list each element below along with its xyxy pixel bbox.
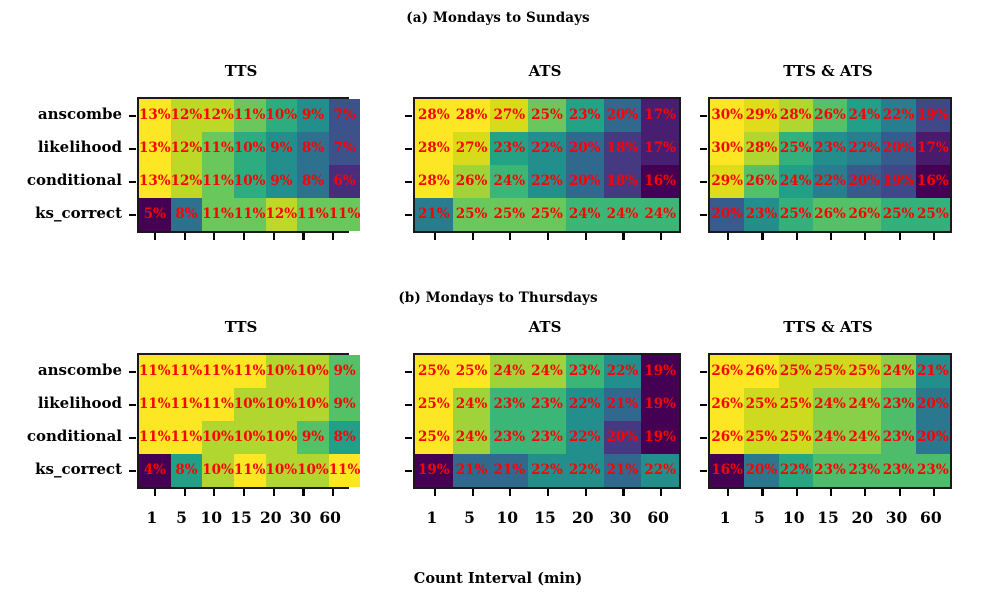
x-tick-mark: [273, 233, 275, 240]
heatmap-cell: 17%: [641, 99, 679, 132]
heatmap-cell: 23%: [566, 99, 604, 132]
heatmap-cell: 23%: [490, 388, 528, 421]
heatmap-cell: 13%: [139, 132, 171, 165]
heatmap-cell: 12%: [171, 99, 203, 132]
panel-title-b-ats: ATS: [413, 318, 677, 336]
y-tick-mark: [405, 148, 412, 150]
heatmap-cell: 26%: [453, 165, 491, 198]
heatmap-cell: 17%: [641, 132, 679, 165]
heatmap-cell: 24%: [813, 421, 847, 454]
heatmap-cell: 25%: [813, 355, 847, 388]
heatmap-cell: 25%: [744, 421, 778, 454]
heatmap-cell: 24%: [813, 388, 847, 421]
heatmap-cell: 11%: [234, 99, 266, 132]
heatmap-cell: 25%: [415, 355, 453, 388]
y-tick-mark: [700, 437, 707, 439]
heatmap-cell: 24%: [490, 355, 528, 388]
heatmap-cell: 16%: [641, 165, 679, 198]
heatmap-cell: 25%: [744, 388, 778, 421]
heatmap-cell: 30%: [710, 132, 744, 165]
heatmap-cell: 10%: [266, 99, 298, 132]
heatmap-cell: 24%: [881, 355, 915, 388]
heatmap-a-ats: 28%28%27%25%23%20%17%28%27%23%22%20%18%1…: [413, 97, 681, 233]
heatmap-cell: 11%: [202, 165, 234, 198]
x-tick-mark: [830, 233, 832, 240]
heatmap-cell: 30%: [710, 99, 744, 132]
y-tick-mark: [405, 470, 412, 472]
heatmap-cell: 22%: [847, 132, 881, 165]
heatmap-cell: 24%: [528, 355, 566, 388]
heatmap-cell: 26%: [710, 355, 744, 388]
x-axis-tick-label: 1: [413, 508, 451, 527]
heatmap-cell: 11%: [329, 198, 361, 231]
heatmap-cell: 11%: [234, 454, 266, 487]
x-tick-mark: [864, 489, 866, 496]
y-tick-mark: [700, 148, 707, 150]
heatmap-cell: 10%: [234, 421, 266, 454]
x-axis-tick-label: 60: [315, 508, 345, 527]
x-tick-mark: [622, 489, 624, 496]
heatmap-cell: 23%: [847, 454, 881, 487]
heatmap-cell: 28%: [415, 165, 453, 198]
x-tick-mark: [547, 489, 549, 496]
x-tick-mark: [184, 233, 186, 240]
heatmap-cell: 12%: [171, 165, 203, 198]
x-axis-tick-label: 30: [286, 508, 316, 527]
x-tick-mark: [213, 489, 215, 496]
x-tick-mark: [332, 489, 334, 496]
heatmap-cell: 20%: [916, 421, 950, 454]
heatmap-cell: 25%: [453, 355, 491, 388]
heatmap-cell: 9%: [266, 132, 298, 165]
section-title-b: (b) Mondays to Thursdays: [0, 290, 996, 306]
heatmap-b-ats: 25%25%24%24%23%22%19%25%24%23%23%22%21%1…: [413, 353, 681, 489]
x-axis-tick-label: 30: [879, 508, 913, 527]
y-tick-mark: [405, 371, 412, 373]
heatmap-cell: 24%: [641, 198, 679, 231]
heatmap-cell: 22%: [566, 421, 604, 454]
x-tick-mark: [302, 489, 304, 496]
x-tick-mark: [727, 233, 729, 240]
heatmap-b-tts: 11%11%11%11%10%10%9%11%11%11%10%10%10%9%…: [137, 353, 349, 489]
heatmap-cell: 24%: [847, 388, 881, 421]
heatmap-cell: 21%: [453, 454, 491, 487]
x-tick-mark: [184, 489, 186, 496]
heatmap-cell: 24%: [566, 198, 604, 231]
x-tick-mark: [332, 233, 334, 240]
heatmap-cell: 24%: [453, 388, 491, 421]
heatmap-cell: 19%: [641, 355, 679, 388]
heatmap-cell: 25%: [881, 198, 915, 231]
heatmap-cell: 22%: [779, 454, 813, 487]
heatmap-cell: 11%: [171, 421, 203, 454]
heatmap-cell: 21%: [604, 454, 642, 487]
heatmap-cell: 8%: [171, 198, 203, 231]
heatmap-cell: 10%: [266, 454, 298, 487]
x-axis-caption: Count Interval (min): [0, 570, 996, 587]
heatmap-cell: 16%: [916, 165, 950, 198]
y-tick-mark: [405, 115, 412, 117]
x-tick-mark: [154, 233, 156, 240]
heatmap-cell: 11%: [202, 355, 234, 388]
heatmap-cell: 28%: [453, 99, 491, 132]
panel-title-b-tts-ats: TTS & ATS: [708, 318, 948, 336]
heatmap-cell: 22%: [566, 388, 604, 421]
heatmap-cell: 10%: [202, 454, 234, 487]
x-axis-tick-label: 15: [811, 508, 845, 527]
x-axis-tick-label: 20: [564, 508, 602, 527]
x-tick-mark: [472, 233, 474, 240]
heatmap-cell: 25%: [453, 198, 491, 231]
x-axis-tick-label: 15: [226, 508, 256, 527]
y-axis-label-likelihood: likelihood: [0, 131, 122, 164]
heatmap-cell: 21%: [604, 388, 642, 421]
heatmap-cell: 12%: [171, 132, 203, 165]
heatmap-cell: 19%: [641, 421, 679, 454]
heatmap-cell: 11%: [234, 355, 266, 388]
heatmap-cell: 26%: [813, 198, 847, 231]
x-axis-tick-label: 30: [602, 508, 640, 527]
heatmap-cell: 25%: [779, 421, 813, 454]
heatmap-cell: 23%: [566, 355, 604, 388]
heatmap-cell: 8%: [297, 132, 329, 165]
heatmap-cell: 25%: [528, 99, 566, 132]
heatmap-cell: 25%: [779, 132, 813, 165]
heatmap-cell: 7%: [329, 132, 361, 165]
heatmap-cell: 4%: [139, 454, 171, 487]
x-tick-mark: [933, 233, 935, 240]
heatmap-cell: 11%: [202, 132, 234, 165]
y-tick-mark: [405, 404, 412, 406]
heatmap-cell: 26%: [847, 198, 881, 231]
heatmap-cell: 10%: [297, 388, 329, 421]
x-axis-tick-label: 60: [914, 508, 948, 527]
heatmap-cell: 11%: [139, 355, 171, 388]
x-tick-mark: [273, 489, 275, 496]
heatmap-cell: 23%: [881, 454, 915, 487]
heatmap-cell: 10%: [297, 355, 329, 388]
x-tick-mark: [796, 233, 798, 240]
heatmap-cell: 9%: [297, 421, 329, 454]
heatmap-cell: 10%: [234, 132, 266, 165]
heatmap-cell: 25%: [415, 388, 453, 421]
x-tick-mark: [472, 489, 474, 496]
heatmap-cell: 11%: [202, 198, 234, 231]
heatmap-cell: 19%: [916, 99, 950, 132]
y-tick-mark: [129, 181, 136, 183]
panel-title-a-tts: TTS: [137, 62, 345, 80]
heatmap-cell: 8%: [329, 421, 361, 454]
y-axis-labels-b: anscombelikelihoodconditionalks_correct: [0, 354, 122, 486]
x-axis-labels-b-tts: 151015203060: [137, 508, 345, 527]
y-axis-label-conditional: conditional: [0, 420, 122, 453]
heatmap-cell: 25%: [779, 388, 813, 421]
x-tick-mark: [761, 489, 763, 496]
heatmap-cell: 29%: [744, 99, 778, 132]
y-tick-mark: [129, 437, 136, 439]
heatmap-cell: 23%: [881, 421, 915, 454]
x-tick-mark: [154, 489, 156, 496]
x-tick-mark: [899, 233, 901, 240]
heatmap-cell: 22%: [528, 165, 566, 198]
x-axis-tick-label: 60: [639, 508, 677, 527]
heatmap-cell: 21%: [916, 355, 950, 388]
heatmap-cell: 16%: [710, 454, 744, 487]
heatmap-cell: 13%: [139, 99, 171, 132]
heatmap-cell: 27%: [453, 132, 491, 165]
x-tick-mark: [243, 233, 245, 240]
heatmap-cell: 10%: [266, 388, 298, 421]
heatmap-cell: 26%: [813, 99, 847, 132]
heatmap-cell: 28%: [415, 99, 453, 132]
heatmap-cell: 11%: [139, 421, 171, 454]
heatmap-cell: 10%: [234, 165, 266, 198]
y-axis-label-ks-correct: ks_correct: [0, 453, 122, 486]
heatmap-cell: 11%: [297, 198, 329, 231]
heatmap-cell: 18%: [604, 165, 642, 198]
y-tick-mark: [700, 404, 707, 406]
heatmap-cell: 20%: [916, 388, 950, 421]
heatmap-cell: 11%: [171, 388, 203, 421]
y-axis-label-anscombe: anscombe: [0, 98, 122, 131]
heatmap-cell: 22%: [566, 454, 604, 487]
heatmap-cell: 20%: [881, 132, 915, 165]
heatmap-cell: 9%: [329, 355, 361, 388]
heatmap-cell: 20%: [566, 132, 604, 165]
x-axis-tick-label: 10: [777, 508, 811, 527]
panel-title-a-tts-ats: TTS & ATS: [708, 62, 948, 80]
x-tick-mark: [830, 489, 832, 496]
heatmap-cell: 25%: [528, 198, 566, 231]
heatmap-cell: 28%: [744, 132, 778, 165]
heatmap-cell: 27%: [490, 99, 528, 132]
heatmap-cell: 8%: [171, 454, 203, 487]
x-axis-tick-label: 5: [451, 508, 489, 527]
y-tick-mark: [700, 214, 707, 216]
y-axis-label-ks-correct: ks_correct: [0, 197, 122, 230]
heatmap-cell: 29%: [710, 165, 744, 198]
y-tick-mark: [129, 214, 136, 216]
y-axis-label-anscombe: anscombe: [0, 354, 122, 387]
heatmap-cell: 9%: [266, 165, 298, 198]
x-axis-tick-label: 5: [742, 508, 776, 527]
y-tick-mark: [700, 115, 707, 117]
y-tick-mark: [405, 437, 412, 439]
y-tick-mark: [129, 371, 136, 373]
heatmap-cell: 21%: [415, 198, 453, 231]
x-tick-mark: [727, 489, 729, 496]
heatmap-cell: 13%: [139, 165, 171, 198]
heatmap-cell: 23%: [813, 132, 847, 165]
x-tick-mark: [864, 233, 866, 240]
heatmap-cell: 20%: [604, 99, 642, 132]
heatmap-cell: 23%: [813, 454, 847, 487]
heatmap-cell: 23%: [490, 132, 528, 165]
y-tick-mark: [405, 181, 412, 183]
x-axis-tick-label: 20: [256, 508, 286, 527]
heatmap-cell: 24%: [847, 99, 881, 132]
y-tick-mark: [129, 470, 136, 472]
heatmap-cell: 10%: [202, 421, 234, 454]
y-axis-label-conditional: conditional: [0, 164, 122, 197]
heatmap-cell: 26%: [744, 165, 778, 198]
heatmap-cell: 12%: [202, 99, 234, 132]
heatmap-cell: 20%: [566, 165, 604, 198]
y-tick-mark: [129, 404, 136, 406]
x-tick-mark: [796, 489, 798, 496]
x-tick-mark: [622, 233, 624, 240]
heatmap-cell: 26%: [744, 355, 778, 388]
y-axis-label-likelihood: likelihood: [0, 387, 122, 420]
heatmap-cell: 10%: [297, 454, 329, 487]
x-tick-mark: [660, 489, 662, 496]
heatmap-a-tts-ats: 30%29%28%26%24%22%19%30%28%25%23%22%20%1…: [708, 97, 952, 233]
heatmap-cell: 11%: [329, 454, 361, 487]
panel-title-b-tts: TTS: [137, 318, 345, 336]
section-title-a: (a) Mondays to Sundays: [0, 10, 996, 26]
heatmap-cell: 11%: [171, 355, 203, 388]
heatmap-cell: 25%: [779, 198, 813, 231]
x-axis-tick-label: 15: [526, 508, 564, 527]
heatmap-cell: 26%: [710, 388, 744, 421]
heatmap-cell: 28%: [779, 99, 813, 132]
x-axis-tick-label: 1: [137, 508, 167, 527]
x-tick-mark: [243, 489, 245, 496]
heatmap-cell: 10%: [234, 388, 266, 421]
heatmap-cell: 11%: [139, 388, 171, 421]
heatmap-cell: 23%: [916, 454, 950, 487]
heatmap-cell: 20%: [710, 198, 744, 231]
heatmap-cell: 25%: [415, 421, 453, 454]
x-tick-mark: [302, 233, 304, 240]
heatmap-cell: 22%: [528, 132, 566, 165]
heatmap-cell: 23%: [490, 421, 528, 454]
x-axis-tick-label: 20: [845, 508, 879, 527]
heatmap-cell: 23%: [528, 421, 566, 454]
heatmap-cell: 24%: [779, 165, 813, 198]
heatmap-cell: 25%: [779, 355, 813, 388]
y-tick-mark: [700, 371, 707, 373]
heatmap-cell: 25%: [916, 198, 950, 231]
heatmap-cell: 22%: [528, 454, 566, 487]
x-axis-tick-label: 10: [488, 508, 526, 527]
x-tick-mark: [547, 233, 549, 240]
heatmap-cell: 24%: [453, 421, 491, 454]
x-tick-mark: [585, 233, 587, 240]
heatmap-cell: 22%: [604, 355, 642, 388]
x-axis-tick-label: 1: [708, 508, 742, 527]
heatmap-cell: 17%: [916, 132, 950, 165]
x-tick-mark: [509, 489, 511, 496]
heatmap-cell: 19%: [415, 454, 453, 487]
heatmap-cell: 25%: [490, 198, 528, 231]
heatmap-cell: 9%: [329, 388, 361, 421]
x-tick-mark: [933, 489, 935, 496]
y-axis-labels-a: anscombelikelihoodconditionalks_correct: [0, 98, 122, 230]
x-axis-tick-label: 10: [196, 508, 226, 527]
heatmap-cell: 7%: [329, 99, 361, 132]
heatmap-a-tts: 13%12%12%11%10%9%7%13%12%11%10%9%8%7%13%…: [137, 97, 349, 233]
heatmap-cell: 24%: [490, 165, 528, 198]
heatmap-cell: 24%: [847, 421, 881, 454]
heatmap-cell: 11%: [234, 198, 266, 231]
heatmap-cell: 23%: [881, 388, 915, 421]
heatmap-cell: 23%: [744, 198, 778, 231]
x-tick-mark: [660, 233, 662, 240]
heatmap-cell: 20%: [604, 421, 642, 454]
heatmap-cell: 10%: [266, 355, 298, 388]
panel-title-a-ats: ATS: [413, 62, 677, 80]
y-tick-mark: [405, 214, 412, 216]
x-tick-mark: [213, 233, 215, 240]
heatmap-figure: (a) Mondays to Sundays TTS ATS TTS & ATS…: [0, 0, 996, 607]
heatmap-cell: 9%: [297, 99, 329, 132]
heatmap-cell: 22%: [881, 99, 915, 132]
heatmap-cell: 8%: [297, 165, 329, 198]
heatmap-cell: 18%: [604, 132, 642, 165]
heatmap-cell: 20%: [744, 454, 778, 487]
heatmap-cell: 26%: [710, 421, 744, 454]
heatmap-cell: 10%: [266, 421, 298, 454]
x-tick-mark: [899, 489, 901, 496]
heatmap-cell: 24%: [604, 198, 642, 231]
y-tick-mark: [129, 148, 136, 150]
heatmap-cell: 28%: [415, 132, 453, 165]
heatmap-cell: 21%: [490, 454, 528, 487]
y-tick-mark: [700, 470, 707, 472]
heatmap-cell: 6%: [329, 165, 361, 198]
heatmap-cell: 20%: [847, 165, 881, 198]
heatmap-cell: 23%: [528, 388, 566, 421]
heatmap-cell: 11%: [202, 388, 234, 421]
heatmap-cell: 19%: [881, 165, 915, 198]
heatmap-cell: 22%: [813, 165, 847, 198]
x-tick-mark: [434, 489, 436, 496]
heatmap-cell: 19%: [641, 388, 679, 421]
x-axis-tick-label: 5: [167, 508, 197, 527]
x-axis-labels-b-tts-ats: 151015203060: [708, 508, 948, 527]
heatmap-cell: 12%: [266, 198, 298, 231]
x-tick-mark: [509, 233, 511, 240]
heatmap-b-tts-ats: 26%26%25%25%25%24%21%26%25%25%24%24%23%2…: [708, 353, 952, 489]
y-tick-mark: [700, 181, 707, 183]
heatmap-cell: 22%: [641, 454, 679, 487]
heatmap-cell: 5%: [139, 198, 171, 231]
x-axis-labels-b-ats: 151015203060: [413, 508, 677, 527]
y-tick-mark: [129, 115, 136, 117]
x-tick-mark: [585, 489, 587, 496]
x-tick-mark: [761, 233, 763, 240]
x-tick-mark: [434, 233, 436, 240]
heatmap-cell: 25%: [847, 355, 881, 388]
